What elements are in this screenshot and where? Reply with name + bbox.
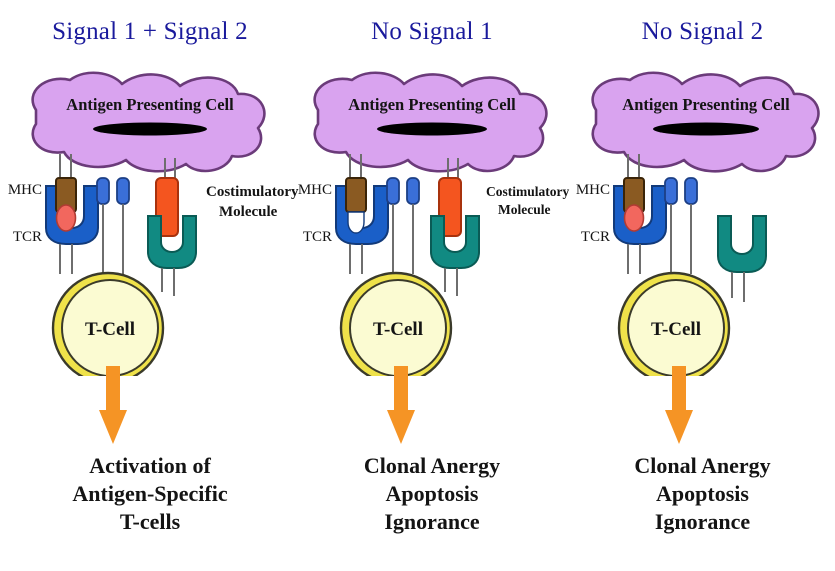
- costimulatory-molecule-label-line2: Molecule: [498, 202, 550, 217]
- apc-label: Antigen Presenting Cell: [66, 95, 234, 114]
- outcome-arrow: [382, 366, 422, 444]
- mhc-label: MHC: [576, 182, 610, 198]
- antigen-presenting-cell-body: [593, 73, 819, 171]
- outcome-line: Clonal Anergy: [292, 452, 572, 480]
- mhc-label: MHC: [8, 182, 42, 198]
- apc-label: Antigen Presenting Cell: [348, 95, 516, 114]
- panel-no-signal-1: No Signal 1: [292, 0, 572, 571]
- outcome-arrow: [660, 366, 700, 444]
- peptide-antigen: [625, 205, 644, 231]
- mhc-label: MHC: [298, 182, 332, 198]
- outcome-text: Clonal Anergy Apoptosis Ignorance: [292, 452, 572, 536]
- apc-nucleus: [93, 123, 207, 136]
- panel-diagram: T-Cell MHC TCR Antigen Presenting Cell: [570, 66, 835, 376]
- costimulatory-molecule-label-line2: Molecule: [219, 204, 278, 220]
- empty-peptide-groove: [348, 212, 364, 233]
- panel-title: No Signal 2: [570, 18, 835, 46]
- tcr-label: TCR: [581, 229, 610, 245]
- peptide-antigen: [57, 205, 76, 231]
- apc-label: Antigen Presenting Cell: [622, 95, 790, 114]
- panel-diagram: T-Cell MHC TCR Costimulatory Molecule An…: [292, 66, 572, 376]
- t-cell-activation-figure: Signal 1 + Signal 2: [0, 0, 835, 571]
- panel-no-signal-2: No Signal 2: [570, 0, 835, 571]
- adhesion-molecule-2: [117, 178, 129, 204]
- tcr-label: TCR: [303, 229, 332, 245]
- costimulatory-molecule-label-line1: Costimulatory: [206, 184, 299, 200]
- outcome-arrow: [94, 366, 134, 444]
- outcome-line: Ignorance: [292, 508, 572, 536]
- adhesion-molecule-2: [407, 178, 419, 204]
- t-cell-label: T-Cell: [85, 319, 135, 340]
- outcome-line: Clonal Anergy: [570, 452, 835, 480]
- panel-signal-1-plus-2: Signal 1 + Signal 2: [0, 0, 300, 571]
- outcome-text: Clonal Anergy Apoptosis Ignorance: [570, 452, 835, 536]
- outcome-text: Activation of Antigen-Specific T-cells: [0, 452, 300, 536]
- adhesion-molecule-2: [685, 178, 697, 204]
- outcome-line: T-cells: [0, 508, 300, 536]
- outcome-line: Ignorance: [570, 508, 835, 536]
- antigen-presenting-cell-body: [33, 73, 265, 171]
- outcome-line: Antigen-Specific: [0, 480, 300, 508]
- costimulatory-receptor: [718, 216, 766, 272]
- costimulatory-molecule-label-line1: Costimulatory: [486, 184, 569, 199]
- outcome-line: Activation of: [0, 452, 300, 480]
- outcome-line: Apoptosis: [570, 480, 835, 508]
- mhc-molecule: [346, 178, 366, 212]
- t-cell-label: T-Cell: [651, 319, 701, 340]
- panel-title: No Signal 1: [292, 18, 572, 46]
- tcr-label: TCR: [13, 229, 42, 245]
- apc-nucleus: [653, 123, 759, 136]
- panel-diagram: T-Cell MHC TCR Costimulatory Molecule An…: [0, 66, 300, 376]
- apc-nucleus: [377, 123, 487, 136]
- panel-title: Signal 1 + Signal 2: [0, 18, 300, 46]
- t-cell-label: T-Cell: [373, 319, 423, 340]
- adhesion-molecule-1: [387, 178, 399, 204]
- outcome-line: Apoptosis: [292, 480, 572, 508]
- adhesion-molecule-1: [97, 178, 109, 204]
- adhesion-molecule-1: [665, 178, 677, 204]
